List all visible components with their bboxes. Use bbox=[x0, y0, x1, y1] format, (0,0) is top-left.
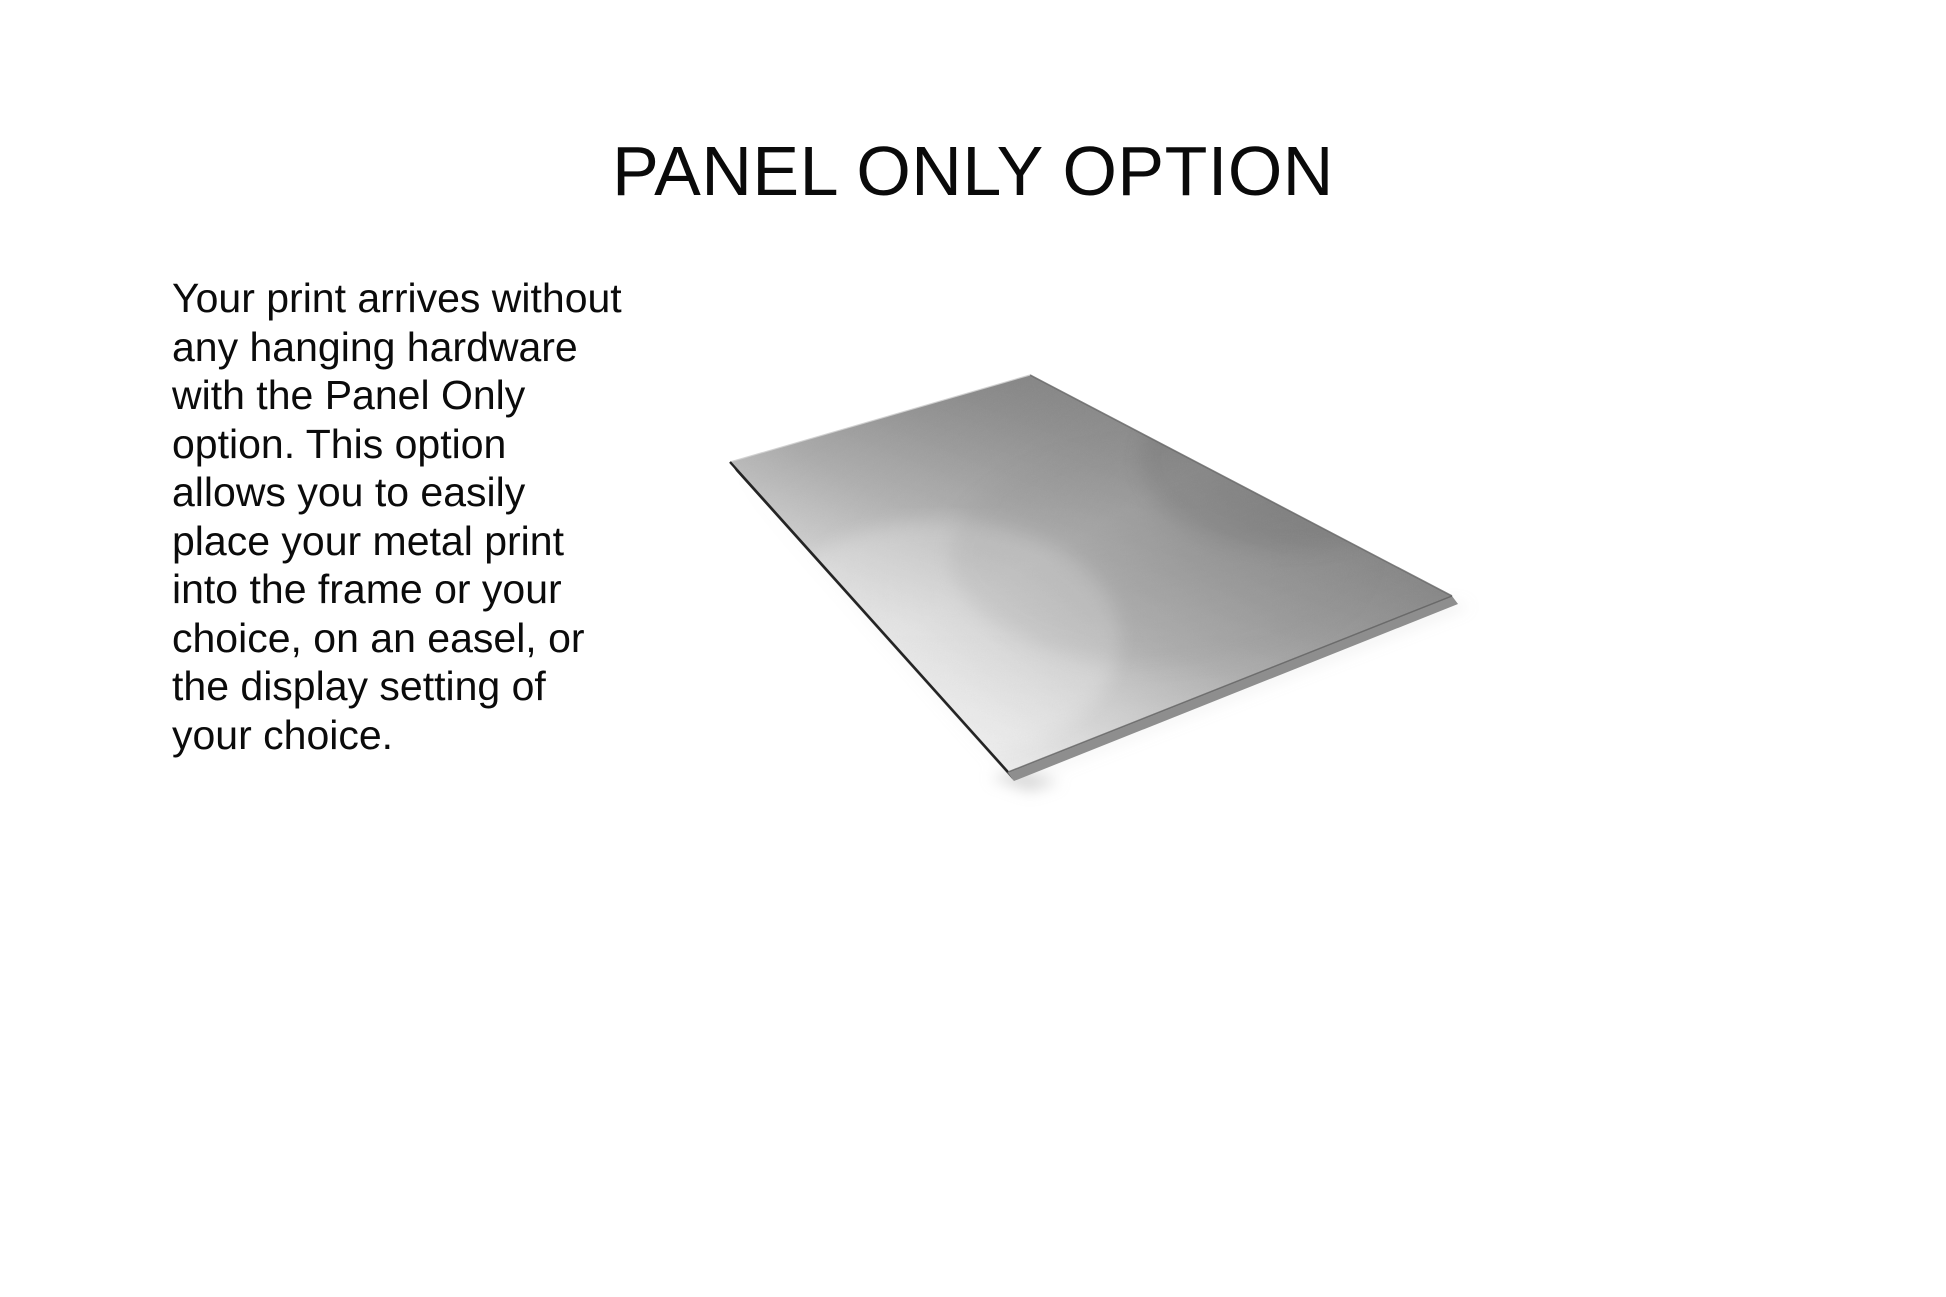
body-paragraph: Your print arrives without any hanging h… bbox=[172, 274, 624, 759]
page-title: PANEL ONLY OPTION bbox=[0, 129, 1946, 213]
panel-face bbox=[690, 340, 1490, 810]
metal-panel-figure bbox=[690, 340, 1490, 810]
metal-panel-illustration bbox=[690, 340, 1490, 810]
slide-canvas: PANEL ONLY OPTION Your print arrives wit… bbox=[0, 0, 1946, 1297]
